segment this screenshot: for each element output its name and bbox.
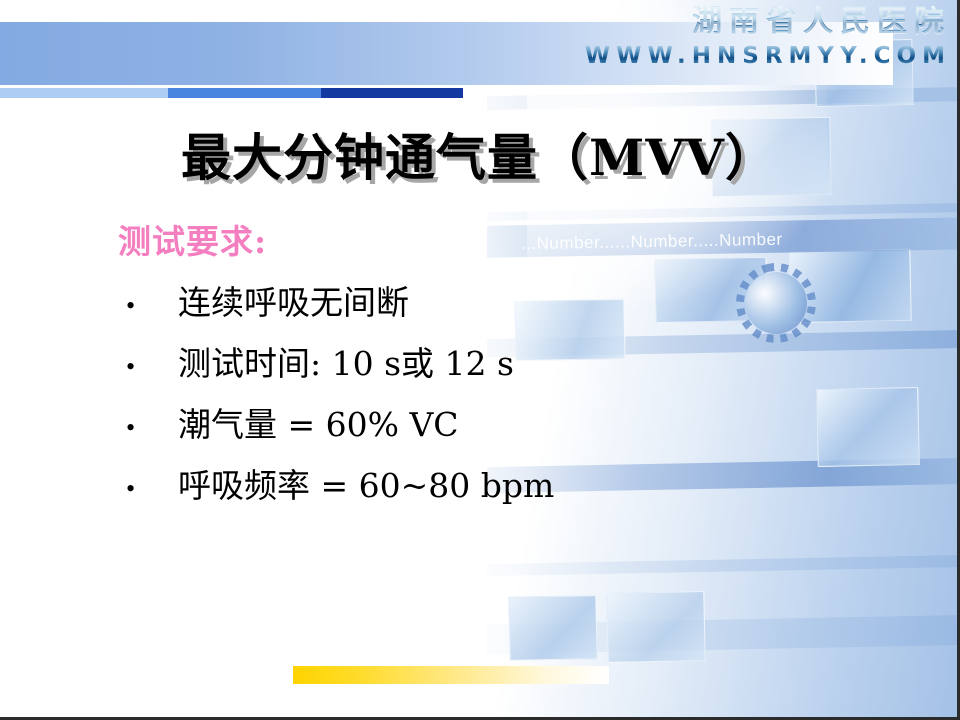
presentation-slide: ...Number......Number.....Number 0110101… [0, 0, 960, 720]
hospital-website: WWW.HNSRMYY.COM [585, 44, 951, 68]
background-band [487, 458, 957, 494]
background-photo-tile [606, 591, 705, 663]
header-segment-light [0, 88, 168, 98]
bullet-marker-icon: • [118, 474, 178, 504]
background-photo-tile [816, 387, 920, 467]
bullet-marker-icon: • [118, 413, 178, 443]
list-item-label: 潮气量 = 60% VC [178, 398, 459, 446]
background-photo-tile [788, 249, 911, 324]
background-band [487, 615, 957, 655]
header-segment-bar [0, 88, 463, 98]
section-subhead: 测试要求: [118, 215, 267, 263]
list-item-label: 连续呼吸无间断 [178, 276, 409, 324]
background-band [487, 87, 957, 111]
list-item-label: 测试时间: 10 s或 12 s [178, 337, 514, 385]
list-item-label: 呼吸频率 = 60~80 bpm [178, 459, 554, 507]
list-item: • 呼吸频率 = 60~80 bpm [118, 459, 554, 520]
header-segment-mid [168, 88, 321, 98]
background-band [487, 203, 957, 222]
background-numbers-text: ...Number......Number.....Number [521, 230, 783, 255]
hospital-logo: 湖南省人民医院 WWW.HNSRMYY.COM [585, 6, 951, 68]
background-tech-collage: ...Number......Number.....Number 0110101… [487, 0, 957, 717]
background-photo-tile [654, 257, 767, 323]
footer-yellow-accent-bar [293, 666, 609, 684]
background-photo-tile [508, 595, 597, 661]
list-item: • 潮气量 = 60% VC [118, 398, 554, 459]
slide-title: 最大分钟通气量（MVV） [0, 118, 957, 190]
bullet-marker-icon: • [118, 291, 178, 321]
bullet-marker-icon: • [118, 352, 178, 382]
background-band [487, 555, 957, 577]
background-wash [487, 0, 957, 717]
hospital-name: 湖南省人民医院 [585, 6, 951, 38]
list-item: • 测试时间: 10 s或 12 s [118, 337, 554, 398]
requirements-bullet-list: • 连续呼吸无间断 • 测试时间: 10 s或 12 s • 潮气量 = 60%… [118, 276, 554, 520]
gear-icon [738, 265, 813, 340]
background-numbers-strip [487, 218, 957, 259]
list-item: • 连续呼吸无间断 [118, 276, 554, 337]
background-band [487, 330, 957, 358]
header-segment-dark [321, 88, 463, 98]
